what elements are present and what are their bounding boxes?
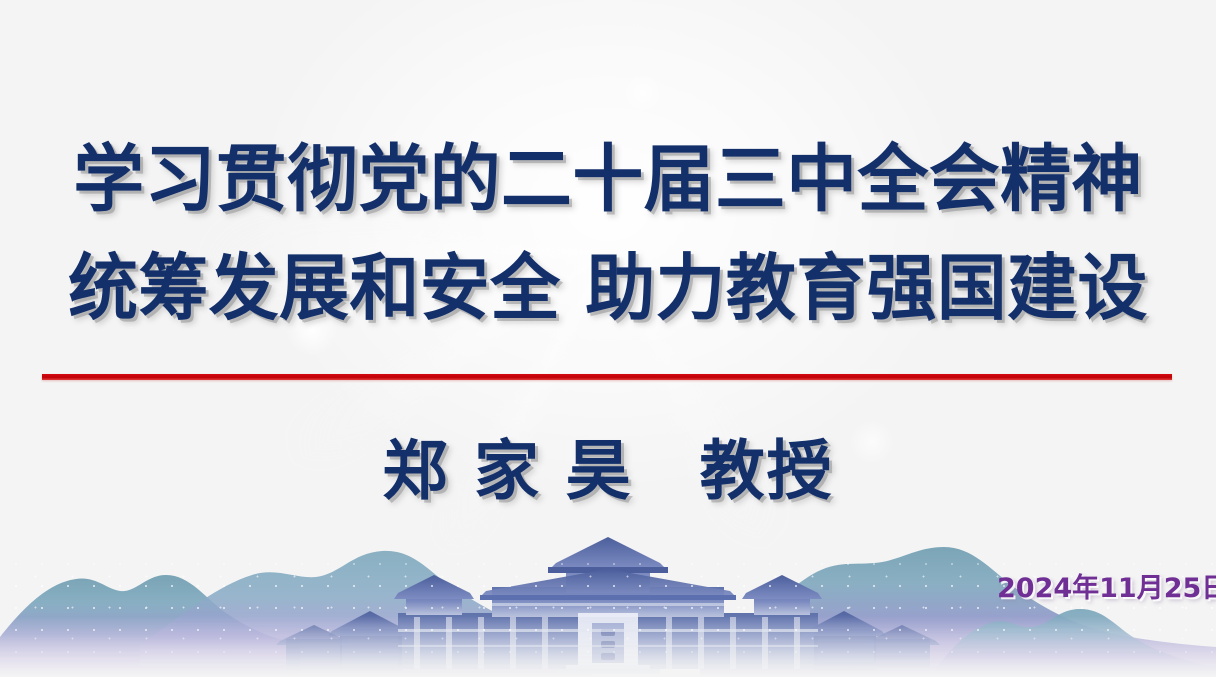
presentation-title-slide: 学习贯彻党的二十届三中全会精神 统筹发展和安全 助力教育强国建设 郑 家 昊 教… — [0, 0, 1216, 677]
page-title: 学习贯彻党的二十届三中全会精神 统筹发展和安全 助力教育强国建设 — [0, 126, 1216, 342]
title-divider — [42, 374, 1172, 380]
speaker-name: 郑 家 昊 教授 — [0, 424, 1216, 520]
title-line-2: 统筹发展和安全 助力教育强国建设 — [18, 234, 1198, 342]
presentation-date: 2024年11月25日 — [997, 566, 1216, 605]
title-line-1: 学习贯彻党的二十届三中全会精神 — [18, 126, 1198, 234]
